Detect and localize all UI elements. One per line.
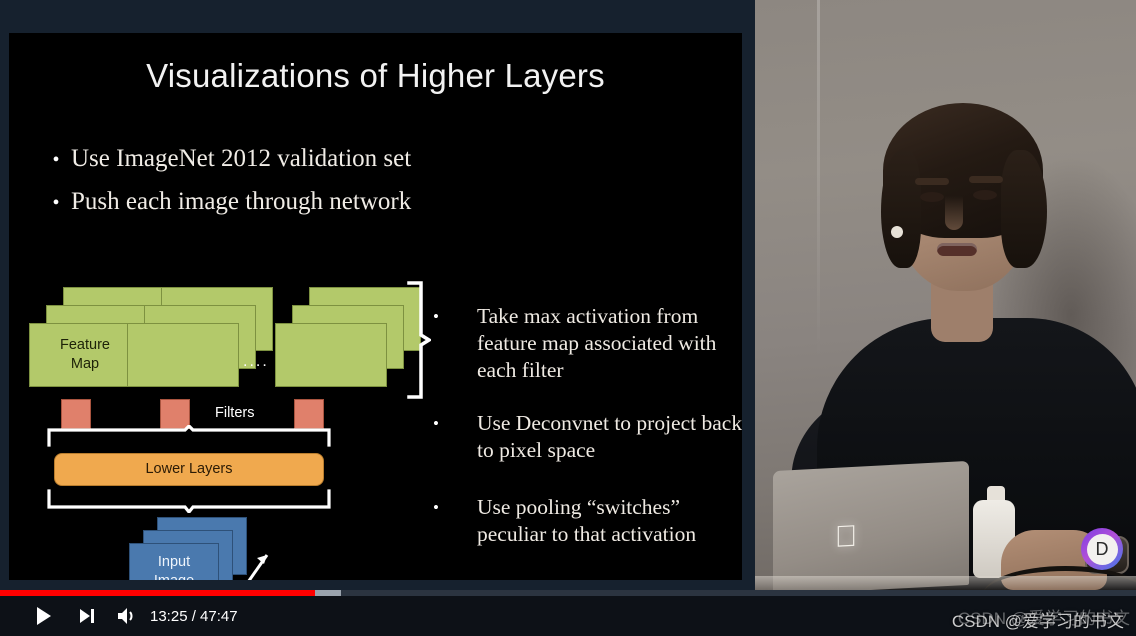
lapel-microphone	[891, 226, 903, 238]
video-player: Visualizations of Higher Layers • Use Im…	[0, 0, 1136, 636]
play-button[interactable]	[26, 596, 62, 636]
ellipsis-label: ....	[243, 353, 269, 371]
apple-logo-icon: 	[831, 521, 861, 555]
presentation-slide: Visualizations of Higher Layers • Use Im…	[9, 33, 742, 580]
input-image-label: InputImage	[130, 553, 218, 580]
bullet-text: Use Deconvnet to project back to pixel s…	[477, 410, 742, 464]
bullet-item: • Take max activation from feature map a…	[433, 303, 742, 384]
input-image-card-front: InputImage	[129, 543, 219, 580]
feature-map-card	[275, 323, 387, 387]
feature-map-card-front: FeatureMap	[29, 323, 141, 387]
bullet-item: • Use Deconvnet to project back to pixel…	[433, 410, 742, 464]
presenter-eyebrow	[969, 176, 1003, 183]
presenter-hair-side	[881, 150, 921, 268]
slide-bullet-list-right: • Take max activation from feature map a…	[433, 303, 742, 570]
player-controls: 13:25 / 47:47 CSDN @爱学习的书文 CSDN @爱学习的书文	[0, 596, 1136, 636]
video-stage[interactable]: Visualizations of Higher Layers • Use Im…	[0, 0, 1136, 590]
presenter-eye	[920, 192, 944, 202]
bullet-dot-icon: •	[433, 410, 477, 464]
lower-layers-box: Lower Layers	[54, 453, 324, 486]
presenter-eye	[973, 190, 997, 200]
feature-map-label: FeatureMap	[30, 336, 140, 374]
presenter-camera-view:  D	[755, 0, 1136, 590]
wall-seam	[817, 0, 820, 360]
bullet-text: Use pooling “switches” peculiar to that …	[477, 494, 742, 548]
next-track-icon	[78, 607, 96, 625]
desk-edge	[755, 576, 1136, 590]
bullet-text: Take max activation from feature map ass…	[477, 303, 742, 384]
validation-arrow-icon	[231, 549, 273, 580]
filters-label: Filters	[215, 405, 254, 421]
time-display: 13:25 / 47:47	[150, 596, 238, 636]
architecture-diagram: FeatureMap .... Filters	[9, 33, 429, 580]
watermark-ghost: CSDN @爱学习的书文	[958, 604, 1130, 629]
feature-map-card	[127, 323, 239, 387]
volume-icon	[116, 606, 138, 626]
bullet-dot-icon: •	[433, 494, 477, 548]
channel-badge[interactable]: D	[1081, 528, 1123, 570]
presenter-hair-side	[1001, 150, 1047, 268]
presenter-eyebrow	[915, 178, 949, 185]
bullet-item: • Use pooling “switches” peculiar to tha…	[433, 494, 742, 548]
feature-map-brace-icon	[405, 281, 431, 399]
lower-layers-label: Lower Layers	[55, 454, 323, 485]
macbook-laptop: 	[773, 461, 969, 590]
bullet-dot-icon: •	[433, 303, 477, 384]
next-button[interactable]	[70, 596, 104, 636]
presenter-nose	[945, 196, 963, 230]
watermark-text: CSDN @爱学习的书文 CSDN @爱学习的书文	[952, 607, 1124, 632]
channel-badge-letter: D	[1087, 534, 1118, 565]
lower-layers-brace-icon	[47, 489, 331, 513]
play-icon	[35, 606, 53, 626]
filters-brace-icon	[47, 425, 331, 447]
presenter-mouth	[937, 243, 977, 256]
volume-button[interactable]	[110, 596, 144, 636]
